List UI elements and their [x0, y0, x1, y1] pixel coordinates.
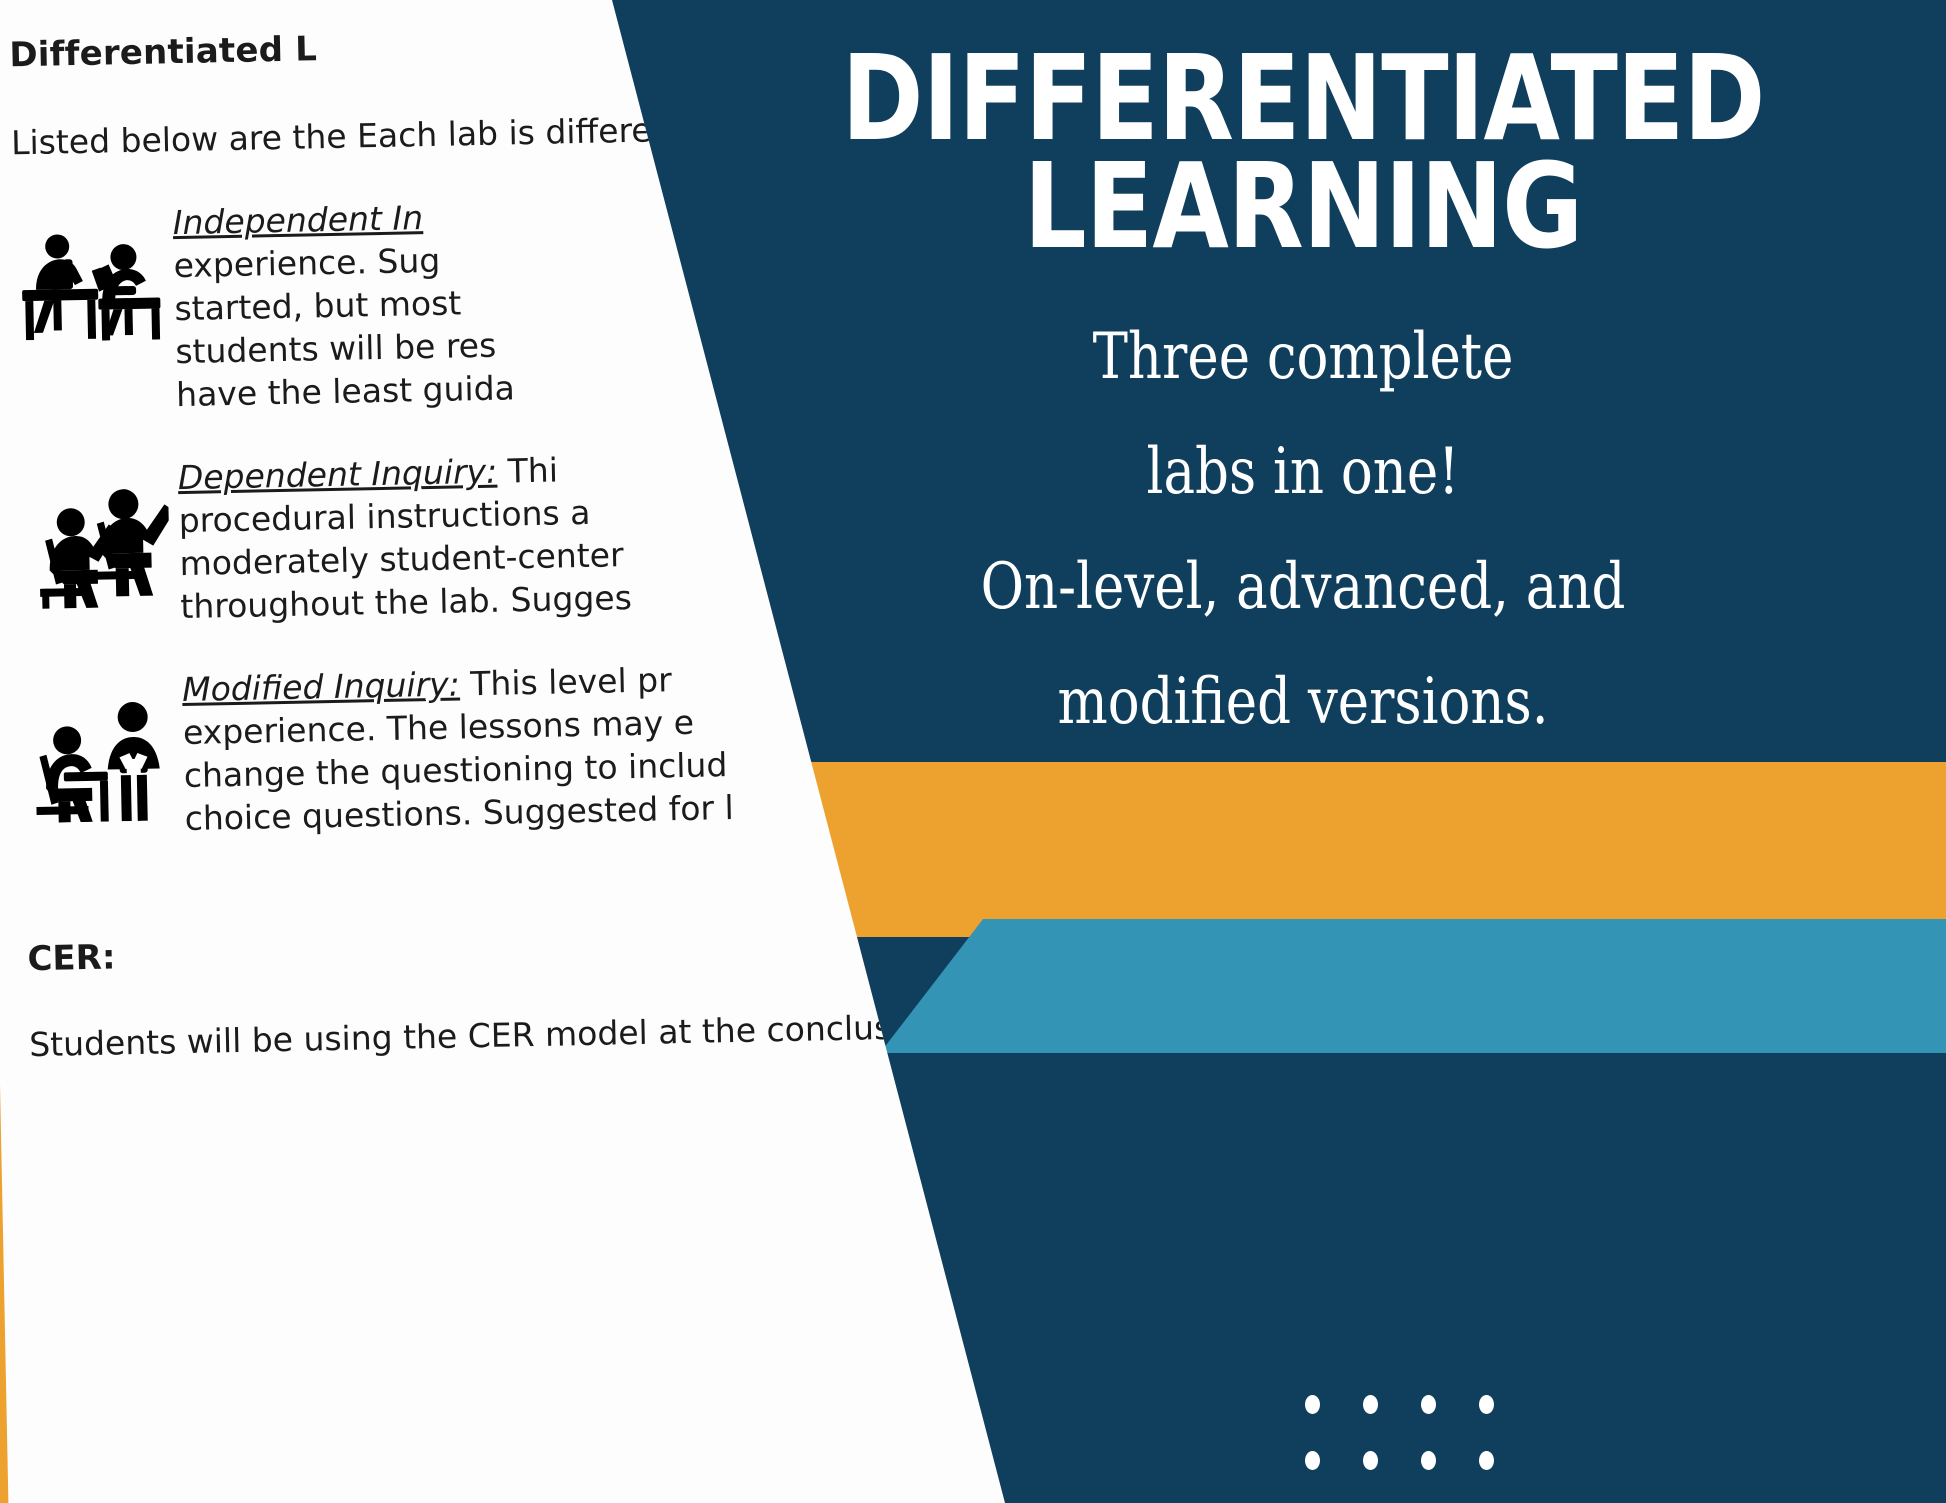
- cer-body-line: Students will be using the CER model at …: [29, 1008, 892, 1064]
- dot: [1479, 1451, 1494, 1470]
- two-students-hands-raised-icon: [17, 456, 180, 609]
- dot: [1363, 1451, 1378, 1470]
- section-lead-label: Independent In: [172, 198, 423, 242]
- orange-band: [690, 762, 1946, 937]
- promo-title: DIFFERENTIATED LEARNING: [660, 44, 1946, 260]
- promo-subtitle: Three complete labs in one! On-level, ad…: [711, 300, 1894, 760]
- section-lead-tail: Thi: [497, 450, 559, 490]
- teacher-and-seated-student-icon: [22, 668, 185, 823]
- dot: [1305, 1395, 1320, 1414]
- two-students-at-desks-icon: [12, 201, 175, 342]
- dot: [1363, 1395, 1378, 1414]
- document-intro-line: Listed below are the: [11, 117, 347, 163]
- promo-graphic: Differentiated L Listed below are the Ea…: [0, 0, 1946, 1503]
- section-lead-tail: This level pr: [459, 660, 672, 703]
- promo-subtitle-line: On-level, advanced, and: [711, 530, 1894, 645]
- promo-title-line-1: DIFFERENTIATED: [705, 44, 1901, 152]
- section-lead-label: Modified Inquiry:: [182, 664, 460, 709]
- dot-grid-bottom-right: [1305, 1395, 1537, 1503]
- dot: [1421, 1395, 1436, 1414]
- section-lead-label: Dependent Inquiry:: [177, 452, 497, 497]
- promo-subtitle-line: Three complete: [711, 300, 1894, 415]
- promo-subtitle-line: labs in one!: [711, 415, 1894, 530]
- promo-subtitle-line: modified versions.: [711, 645, 1894, 760]
- dot: [1421, 1451, 1436, 1470]
- dot: [1479, 1395, 1494, 1414]
- teal-band: [880, 919, 1946, 1053]
- cer-body: Students will be using the CER model at …: [29, 1003, 1020, 1066]
- promo-title-line-2: LEARNING: [705, 152, 1901, 260]
- dot: [1305, 1451, 1320, 1470]
